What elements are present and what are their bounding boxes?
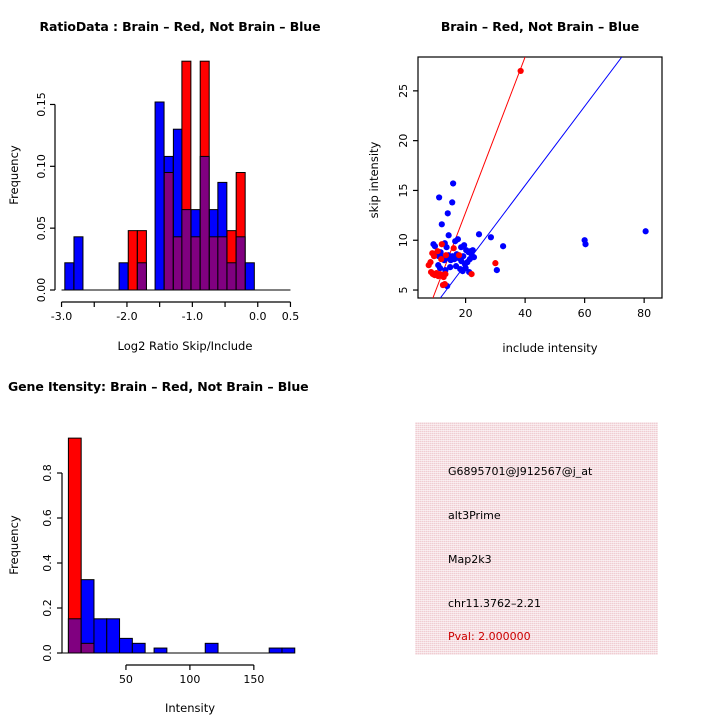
ratio-y-tick-label: 0.10 — [35, 154, 48, 179]
scatter-point — [449, 199, 455, 205]
gene-x-tick-label: 100 — [179, 673, 200, 686]
scatter-point — [427, 259, 433, 265]
scatter-point — [470, 247, 476, 253]
scatter-point — [518, 68, 524, 74]
gene-bar — [81, 580, 94, 653]
scatter-y-tick-label: 10 — [397, 233, 410, 247]
ratio-bar — [74, 237, 83, 290]
scatter-point — [468, 271, 474, 277]
ratio-bar-overlap — [218, 237, 227, 290]
ratio-histogram-plot: 0.000.050.100.15-3.0-2.0-1.00.00.5 Frequ… — [0, 0, 360, 360]
scatter-point — [494, 267, 500, 273]
panel-ratio-histogram: RatioData : Brain – Red, Not Brain – Blu… — [0, 0, 360, 360]
ratio-bar-overlap — [164, 173, 173, 291]
ratio-bar — [119, 263, 128, 290]
gene-bar — [154, 648, 167, 653]
scatter-x-tick-label: 60 — [578, 307, 592, 320]
gene-x-axis-title: Intensity — [165, 701, 215, 715]
ratio-y-tick-label: 0.00 — [35, 278, 48, 303]
probe-id-text: G6895701@J912567@j_at — [448, 465, 592, 478]
scatter-x-tick-label: 80 — [637, 307, 651, 320]
ratio-bar — [65, 263, 74, 290]
scatter-point — [476, 231, 482, 237]
scatter-y-tick-label: 5 — [397, 287, 410, 294]
scatter-point — [450, 180, 456, 186]
scatter-point — [437, 265, 443, 271]
ratio-x-tick-label: -1.0 — [182, 310, 203, 323]
gene-y-tick-label: 0.6 — [41, 509, 54, 527]
scatter-plot: 51015202520406080 skip intensity include… — [360, 0, 720, 360]
locus-text: chr11.3762–2.21 — [448, 597, 541, 610]
gene-x-tick-label: 50 — [119, 673, 133, 686]
scatter-point — [439, 221, 445, 227]
scatter-point — [445, 210, 451, 216]
ratio-y-tick-label: 0.15 — [35, 92, 48, 117]
annotation-box: G6895701@J912567@j_at alt3Prime Map2k3 c… — [415, 422, 658, 655]
ratio-x-tick-label: 0.5 — [282, 310, 300, 323]
scatter-point — [643, 228, 649, 234]
scatter-point — [451, 245, 457, 251]
ratio-y-tick-label: 0.05 — [35, 216, 48, 241]
scatter-y-axis-title: skip intensity — [367, 141, 381, 218]
scatter-point — [582, 241, 588, 247]
scatter-x-axis-title: include intensity — [502, 341, 597, 355]
gene-y-tick-label: 0.8 — [41, 464, 54, 482]
scatter-point — [442, 271, 448, 277]
event-type-text: alt3Prime — [448, 509, 501, 522]
scatter-x-tick-label: 20 — [459, 307, 473, 320]
scatter-point — [435, 248, 441, 254]
gene-y-tick-label: 0.4 — [41, 554, 54, 572]
gene-y-tick-label: 0.2 — [41, 599, 54, 617]
ratio-bar-overlap — [173, 237, 182, 290]
gene-symbol-text: Map2k3 — [448, 553, 492, 566]
panel-gene-intensity-histogram: Gene Itensity: Brain – Red, Not Brain – … — [0, 360, 360, 720]
scatter-point — [436, 194, 442, 200]
ratio-bar — [155, 102, 164, 290]
ratio-y-axis-title: Frequency — [7, 145, 21, 205]
gene-bar — [107, 619, 120, 653]
ratio-x-tick-label: 0.0 — [249, 310, 267, 323]
gene-bar-overlap — [68, 619, 81, 653]
ratio-bar-overlap — [191, 237, 200, 290]
gene-histogram-bars — [68, 438, 294, 653]
ratio-bar — [128, 231, 137, 290]
scatter-point — [442, 281, 448, 287]
gene-histogram-plot: 0.00.20.40.60.850100150 Frequency Intens… — [0, 360, 360, 720]
scatter-point — [431, 253, 437, 259]
gene-bar — [269, 648, 282, 653]
ratio-x-tick-label: -2.0 — [116, 310, 137, 323]
scatter-point — [446, 232, 452, 238]
ratio-bar — [245, 263, 254, 290]
scatter-point — [428, 269, 434, 275]
gene-bar — [132, 643, 145, 653]
ratio-bar-overlap — [227, 263, 236, 290]
ratio-bar-overlap — [200, 156, 209, 290]
scatter-point — [492, 260, 498, 266]
scatter-point — [455, 236, 461, 242]
scatter-y-tick-label: 20 — [397, 134, 410, 148]
gene-bar-overlap — [81, 643, 94, 653]
ratio-bar-overlap — [182, 210, 191, 290]
gene-bar — [94, 619, 107, 653]
panel-annotation-info: G6895701@J912567@j_at alt3Prime Map2k3 c… — [360, 360, 720, 720]
gene-x-tick-label: 150 — [243, 673, 264, 686]
ratio-histogram-bars — [65, 61, 255, 290]
ratio-bar-overlap — [209, 237, 218, 290]
ratio-bar-overlap — [236, 237, 245, 290]
scatter-point — [488, 234, 494, 240]
scatter-point — [500, 243, 506, 249]
scatter-y-tick-label: 25 — [397, 84, 410, 98]
scatter-x-tick-label: 40 — [518, 307, 532, 320]
scatter-point — [471, 254, 477, 260]
gene-bar — [205, 643, 218, 653]
ratio-x-tick-label: -3.0 — [51, 310, 72, 323]
gene-bar — [282, 648, 295, 653]
ratio-x-axis-title: Log2 Ratio Skip/Include — [118, 339, 253, 353]
pval-text: Pval: 2.000000 — [448, 630, 531, 643]
scatter-point — [447, 264, 453, 270]
scatter-point — [443, 252, 449, 258]
gene-y-tick-label: 0.0 — [41, 644, 54, 662]
scatter-point — [438, 256, 444, 262]
gene-y-axis-title: Frequency — [7, 515, 21, 575]
scatter-point — [456, 252, 462, 258]
scatter-y-tick-label: 15 — [397, 183, 410, 197]
ratio-bar-overlap — [137, 263, 146, 290]
r-multipanel-figure: RatioData : Brain – Red, Not Brain – Blu… — [0, 0, 720, 720]
scatter-point — [439, 241, 445, 247]
panel-intensity-scatter: Brain – Red, Not Brain – Blue 5101520252… — [360, 0, 720, 360]
gene-bar — [120, 638, 133, 653]
